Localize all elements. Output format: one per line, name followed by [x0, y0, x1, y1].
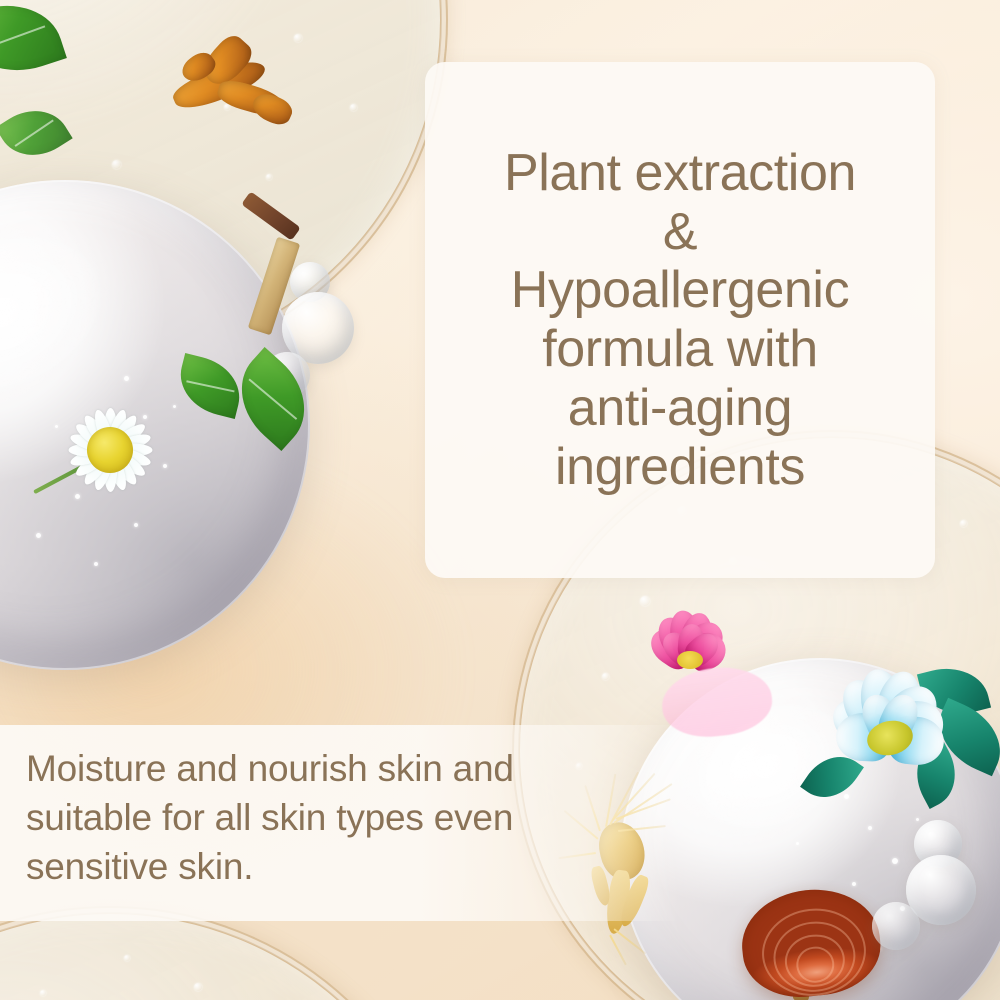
- water-bubble: [872, 902, 920, 950]
- reishi-cap: [737, 883, 885, 1000]
- leaf-vein: [186, 380, 234, 392]
- headline-card: Plant extraction & Hypoallergenic formul…: [425, 62, 935, 578]
- caption-text: Moisture and nourish skin and suitable f…: [26, 744, 626, 892]
- leaf-vein: [249, 378, 298, 419]
- leaf-vein: [0, 25, 45, 50]
- pink-peony-center: [677, 651, 703, 669]
- product-banner: Plant extraction & Hypoallergenic formul…: [0, 0, 1000, 1000]
- dried-orange-peel: [163, 36, 298, 145]
- leaf-vein: [15, 120, 54, 147]
- headline-text: Plant extraction & Hypoallergenic formul…: [504, 144, 856, 497]
- reishi-mushroom: [737, 883, 885, 1000]
- daisy-center: [87, 427, 133, 473]
